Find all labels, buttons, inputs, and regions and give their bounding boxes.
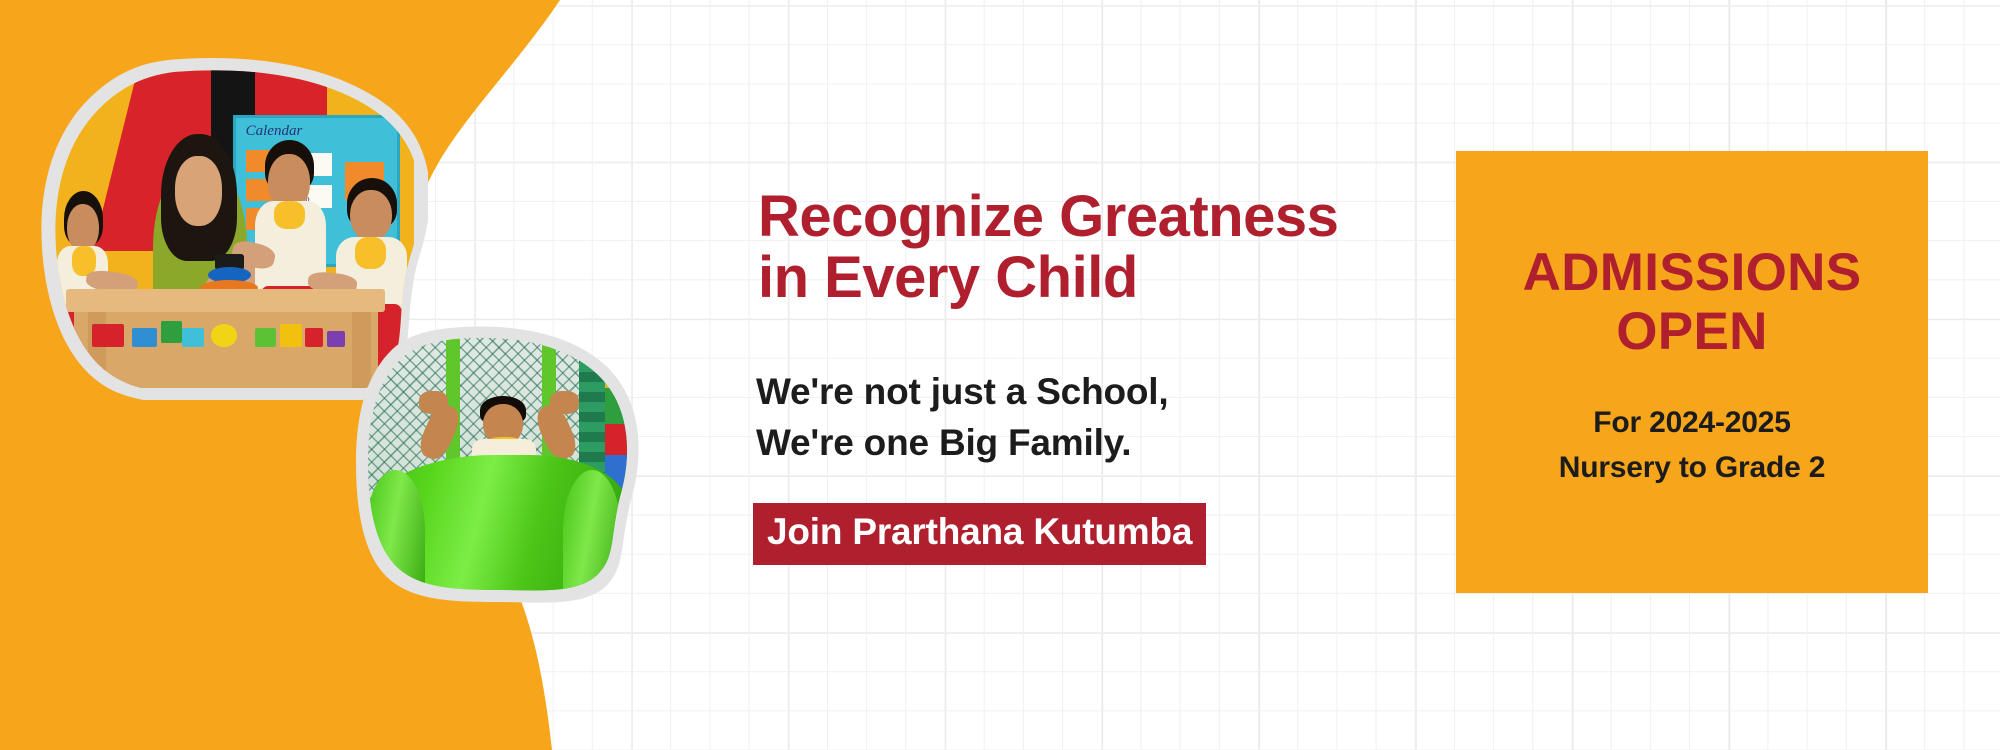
headline-line-2: in Every Child	[758, 245, 1138, 310]
admissions-title: ADMISSIONS OPEN	[1523, 243, 1862, 362]
admissions-title-line-1: ADMISSIONS	[1523, 243, 1862, 302]
subheading: We're not just a School, We're one Big F…	[756, 366, 1316, 468]
page-title: Recognize Greatness in Every Child	[758, 186, 1398, 309]
admissions-panel: ADMISSIONS OPEN For 2024-2025 Nursery to…	[1456, 151, 1928, 593]
subheadline-line-2: We're one Big Family.	[756, 422, 1131, 463]
admissions-details: For 2024-2025 Nursery to Grade 2	[1559, 400, 1826, 491]
join-prarthana-kutumba-button[interactable]: Join Prarthana Kutumba	[753, 503, 1206, 565]
admissions-academic-year: For 2024-2025	[1593, 406, 1791, 439]
admissions-title-line-2: OPEN	[1616, 302, 1767, 361]
slide-photo	[366, 337, 632, 593]
subheadline-line-1: We're not just a School,	[756, 371, 1168, 412]
admissions-grade-range: Nursery to Grade 2	[1559, 451, 1826, 484]
classroom-photo: Calendar Day Date Month Year	[52, 70, 414, 388]
headline-line-1: Recognize Greatness	[758, 184, 1338, 249]
admissions-banner: Calendar Day Date Month Year	[0, 0, 2000, 750]
